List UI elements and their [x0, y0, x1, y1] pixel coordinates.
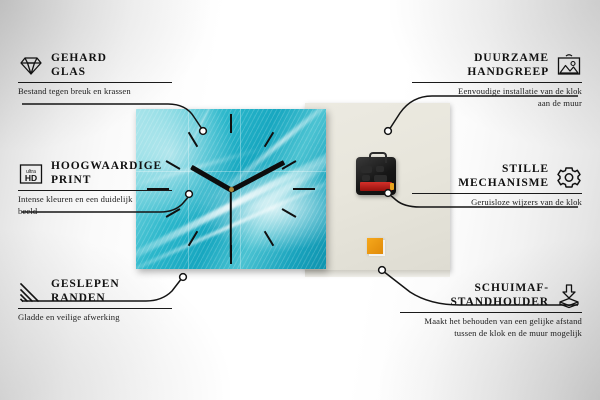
feature-title-line: STANDHOUDER [450, 296, 549, 308]
feature-title-line: GLAS [51, 66, 86, 78]
movement-battery [360, 182, 392, 191]
feature-divider [400, 312, 582, 313]
feature-gehard-glas: GEHARD GLAS Bestand tegen breuk en krass… [18, 52, 188, 98]
feature-description: Eenvoudige installatie van de klok aan d… [454, 86, 582, 109]
feature-description: Geruisloze wijzers van de klok [464, 197, 582, 208]
svg-text:HD: HD [25, 173, 37, 183]
feature-title-line: MECHANISME [458, 177, 549, 189]
diamond-icon [18, 54, 44, 78]
movement-detail-a [361, 166, 372, 173]
feature-title-line: PRINT [51, 174, 91, 186]
ultra-hd-icon: ultra HD [18, 162, 44, 186]
feature-divider [18, 82, 172, 83]
foam-spacer [367, 238, 383, 254]
feature-divider [412, 193, 582, 194]
feature-title-line: GEHARD [51, 52, 107, 64]
feature-title-line: STILLE [502, 163, 549, 175]
feature-duurzame-handgreep: DUURZAME HANDGREEP Eenvoudige installati… [412, 52, 582, 109]
feature-divider [412, 82, 582, 83]
feature-title: STILLE MECHANISME [458, 163, 549, 190]
feature-schuimafstandhouder: SCHUIMAF- STANDHOUDER Maakt het behouden… [400, 282, 582, 339]
clock-center-pin [229, 187, 234, 192]
clock-movement [356, 157, 396, 195]
beveled-edge-icon [18, 280, 44, 304]
feature-title: HOOGWAARDIGE PRINT [51, 160, 162, 187]
feature-description: Gladde en veilige afwerking [18, 312, 168, 323]
feature-divider [18, 308, 172, 309]
feature-stille-mechanisme: STILLE MECHANISME Geruisloze wijzers van… [412, 163, 582, 209]
feature-title-line: RANDEN [51, 292, 106, 304]
product-feature-infographic: GEHARD GLAS Bestand tegen breuk en krass… [0, 0, 600, 400]
feature-title: GESLEPEN RANDEN [51, 278, 120, 305]
clock-tick-3 [293, 188, 315, 190]
feature-title-line: DUURZAME [474, 52, 549, 64]
feature-title-line: HOOGWAARDIGE [51, 160, 162, 172]
feature-divider [18, 190, 172, 191]
feature-title: SCHUIMAF- STANDHOUDER [450, 282, 549, 309]
movement-detail-d [374, 175, 387, 182]
gear-icon [556, 165, 582, 189]
clock-second-hand [230, 190, 232, 258]
feature-title-line: GESLEPEN [51, 278, 120, 290]
press-down-icon [556, 284, 582, 308]
picture-frame-icon [556, 54, 582, 78]
feature-hoogwaardige-print: ultra HD HOOGWAARDIGE PRINT Intense kleu… [18, 160, 198, 217]
feature-description: Maakt het behouden van een gelijke afsta… [400, 316, 582, 339]
feature-description: Bestand tegen breuk en krassen [18, 86, 138, 97]
feature-title-line: SCHUIMAF- [474, 282, 549, 294]
movement-detail-b [376, 166, 384, 172]
movement-hanger [369, 152, 387, 163]
glass-pane-line [240, 109, 241, 269]
feature-description: Intense kleuren en een duidelijk beeld [18, 194, 138, 217]
feature-title-line: HANDGREEP [467, 66, 549, 78]
feature-geslepen-randen: GESLEPEN RANDEN Gladde en veilige afwerk… [18, 278, 198, 324]
feature-title: DUURZAME HANDGREEP [467, 52, 549, 79]
feature-title: GEHARD GLAS [51, 52, 107, 79]
clock-tick-12 [230, 114, 232, 133]
movement-detail-c [362, 175, 370, 181]
